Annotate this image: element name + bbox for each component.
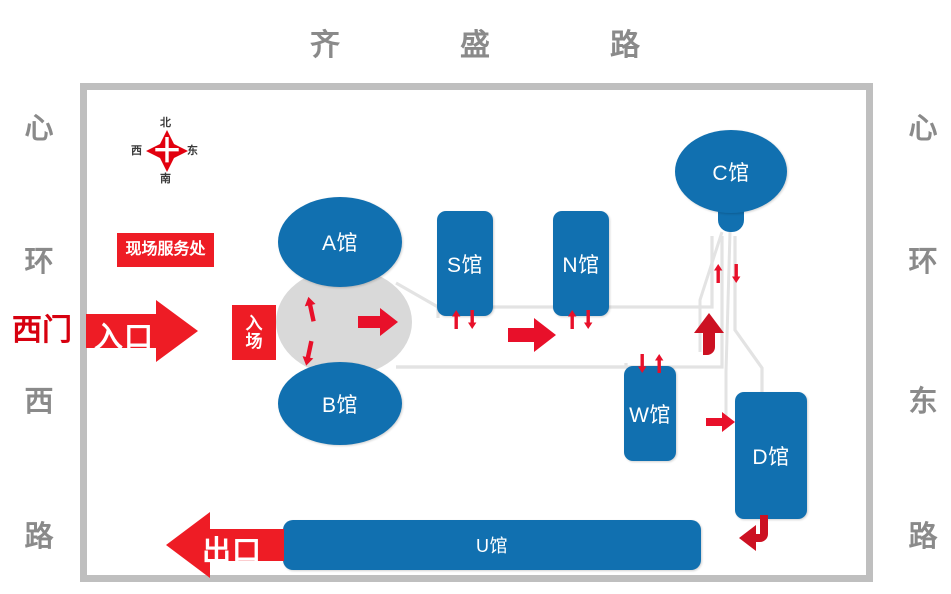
d-hall-entry-arrow — [706, 412, 735, 432]
plaza-up-arrow — [303, 296, 319, 323]
w-hall-down-arrow — [638, 354, 646, 373]
s-hall-down-arrow — [468, 310, 476, 329]
c-hall-up-arrow — [714, 264, 722, 283]
plaza-down-arrow — [301, 340, 317, 367]
n-hall-up-arrow — [568, 310, 576, 329]
n-hall-down-arrow — [584, 310, 592, 329]
w-hall-up-arrow — [655, 354, 663, 373]
entrance-arrow[interactable]: 入口 — [86, 300, 198, 362]
exit-label: 出口 — [202, 528, 262, 570]
enter-venue-label-line1: 入 — [246, 315, 263, 333]
exhibition-floor-map: 齐盛路 心 环 西门 西 路 心 环 东 路 A馆 B — [0, 0, 951, 594]
service-desk-label: 现场服务处 — [125, 242, 205, 259]
corridor-right-arrow — [508, 318, 556, 352]
entrance-label: 入口 — [94, 314, 154, 356]
plaza-right-arrow — [358, 308, 398, 336]
s-hall-up-arrow — [452, 310, 460, 329]
c-hall-down-arrow — [732, 264, 740, 283]
enter-venue-marker[interactable]: 入 场 — [232, 305, 276, 360]
d-hall-exit-arrow — [739, 515, 768, 551]
turn-up-arrow — [694, 313, 724, 355]
flow-arrows — [0, 0, 951, 594]
enter-venue-label-line2: 场 — [246, 333, 263, 351]
exit-arrow[interactable]: 出口 — [166, 512, 284, 578]
service-desk-marker[interactable]: 现场服务处 — [117, 233, 214, 267]
